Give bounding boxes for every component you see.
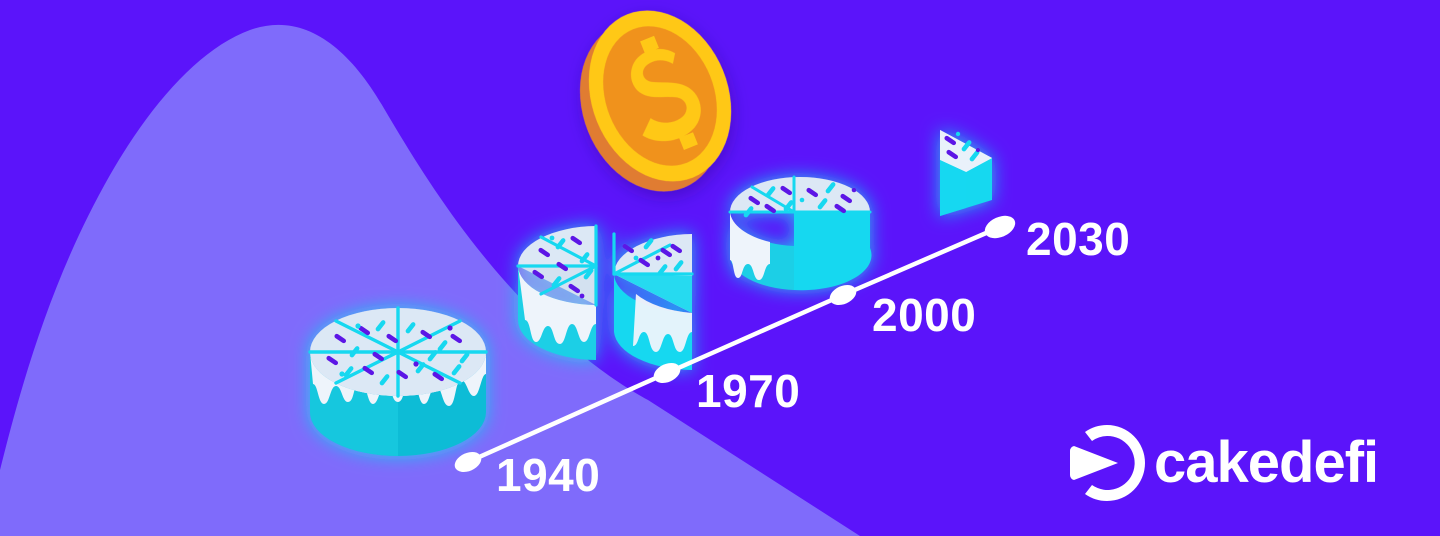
timeline-dot-1940[interactable] — [452, 448, 485, 476]
play-in-circle-icon — [1070, 425, 1145, 501]
hero-banner: 1940 1970 2000 2030 cakedefi — [0, 0, 1440, 536]
timeline-label-2000: 2000 — [872, 292, 976, 338]
timeline-label-2030: 2030 — [1026, 216, 1130, 262]
cakedefi-logo[interactable]: cakedefi — [1066, 420, 1386, 506]
cake-1940 — [310, 308, 486, 456]
cakedefi-wordmark: cakedefi — [1154, 430, 1378, 495]
timeline-label-1970: 1970 — [696, 368, 800, 414]
cakedefi-logo-svg: cakedefi — [1066, 420, 1386, 506]
timeline-label-1940: 1940 — [496, 452, 600, 498]
cake-1970 — [518, 226, 692, 370]
timeline-dot-2030[interactable] — [981, 211, 1018, 242]
cake-2000 — [730, 177, 871, 290]
cake-2030 — [940, 130, 992, 216]
dollar-coin — [553, 0, 758, 213]
